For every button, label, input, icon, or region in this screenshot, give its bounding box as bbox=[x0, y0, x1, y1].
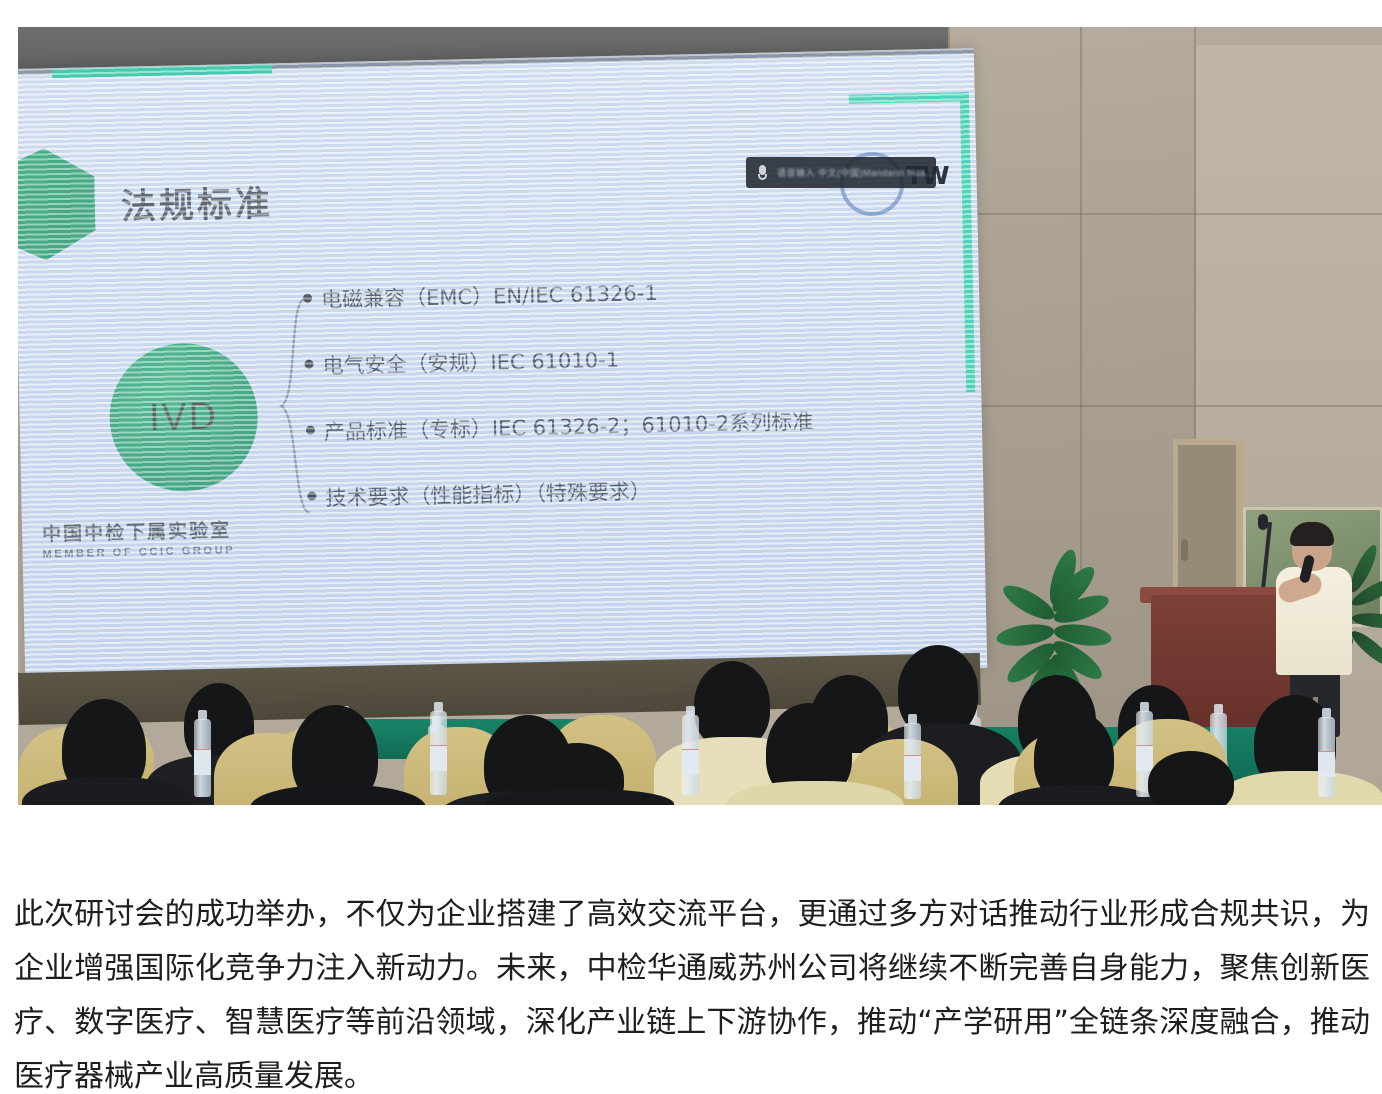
slide-hexagon-decoration bbox=[18, 147, 96, 261]
bullet-text: 电磁兼容（EMC）EN/IEC 61326-1 bbox=[321, 277, 658, 314]
logo-english-text: MEMBER OF CCIC GROUP bbox=[42, 544, 235, 560]
wall-seam bbox=[948, 405, 1382, 407]
wall-seam bbox=[1080, 27, 1082, 587]
bullet-dot-icon bbox=[303, 294, 312, 303]
bullet-dot-icon bbox=[304, 359, 313, 368]
door-knob bbox=[1181, 539, 1188, 561]
projection-screen: 法规标准 IVD 电磁兼容（EMC）EN/IEC 61326-1 电气安全（安规… bbox=[18, 48, 987, 689]
list-item: 产品标准（专标）IEC 61326-2；61010-2系列标准 bbox=[306, 403, 927, 447]
screen-accent-right bbox=[960, 92, 976, 392]
list-item: 技术要求（性能指标）（特殊要求） bbox=[307, 469, 928, 513]
list-item: 电磁兼容（EMC）EN/IEC 61326-1 bbox=[303, 271, 924, 315]
screen-accent-topright bbox=[849, 92, 969, 104]
ivd-badge: IVD bbox=[108, 342, 259, 493]
list-item: 电气安全（安规）IEC 61010-1 bbox=[304, 337, 925, 381]
article-caption-paragraph: 此次研讨会的成功举办，不仅为企业搭建了高效交流平台，更通过多方对话推动行业形成合… bbox=[14, 888, 1370, 1094]
voice-input-overlay[interactable]: 语音输入 中文(中国)Mandarin Hua… bbox=[746, 157, 936, 188]
slide-bullet-list: 电磁兼容（EMC）EN/IEC 61326-1 电气安全（安规）IEC 6101… bbox=[303, 271, 929, 548]
bullet-dot-icon bbox=[306, 425, 315, 434]
bullet-text: 电气安全（安规）IEC 61010-1 bbox=[322, 344, 619, 380]
microphone-icon bbox=[758, 165, 767, 180]
slide-footer-logo: 中国中检下属实验室 MEMBER OF CCIC GROUP bbox=[42, 515, 235, 560]
bullet-dot-icon bbox=[307, 491, 316, 500]
bullet-text: 产品标准（专标）IEC 61326-2；61010-2系列标准 bbox=[324, 406, 814, 447]
seminar-photo: 法规标准 IVD 电磁兼容（EMC）EN/IEC 61326-1 电气安全（安规… bbox=[18, 27, 1382, 805]
bullet-text: 技术要求（性能指标）（特殊要求） bbox=[325, 475, 651, 512]
wall-seam bbox=[948, 213, 1382, 215]
logo-chinese-text: 中国中检下属实验室 bbox=[42, 515, 235, 546]
slide-title: 法规标准 bbox=[120, 175, 273, 229]
article-page: 法规标准 IVD 电磁兼容（EMC）EN/IEC 61326-1 电气安全（安规… bbox=[0, 0, 1382, 1094]
audience-row-nearest bbox=[18, 743, 1382, 805]
voice-input-label: 语音输入 中文(中国)Mandarin Hua… bbox=[777, 166, 935, 179]
